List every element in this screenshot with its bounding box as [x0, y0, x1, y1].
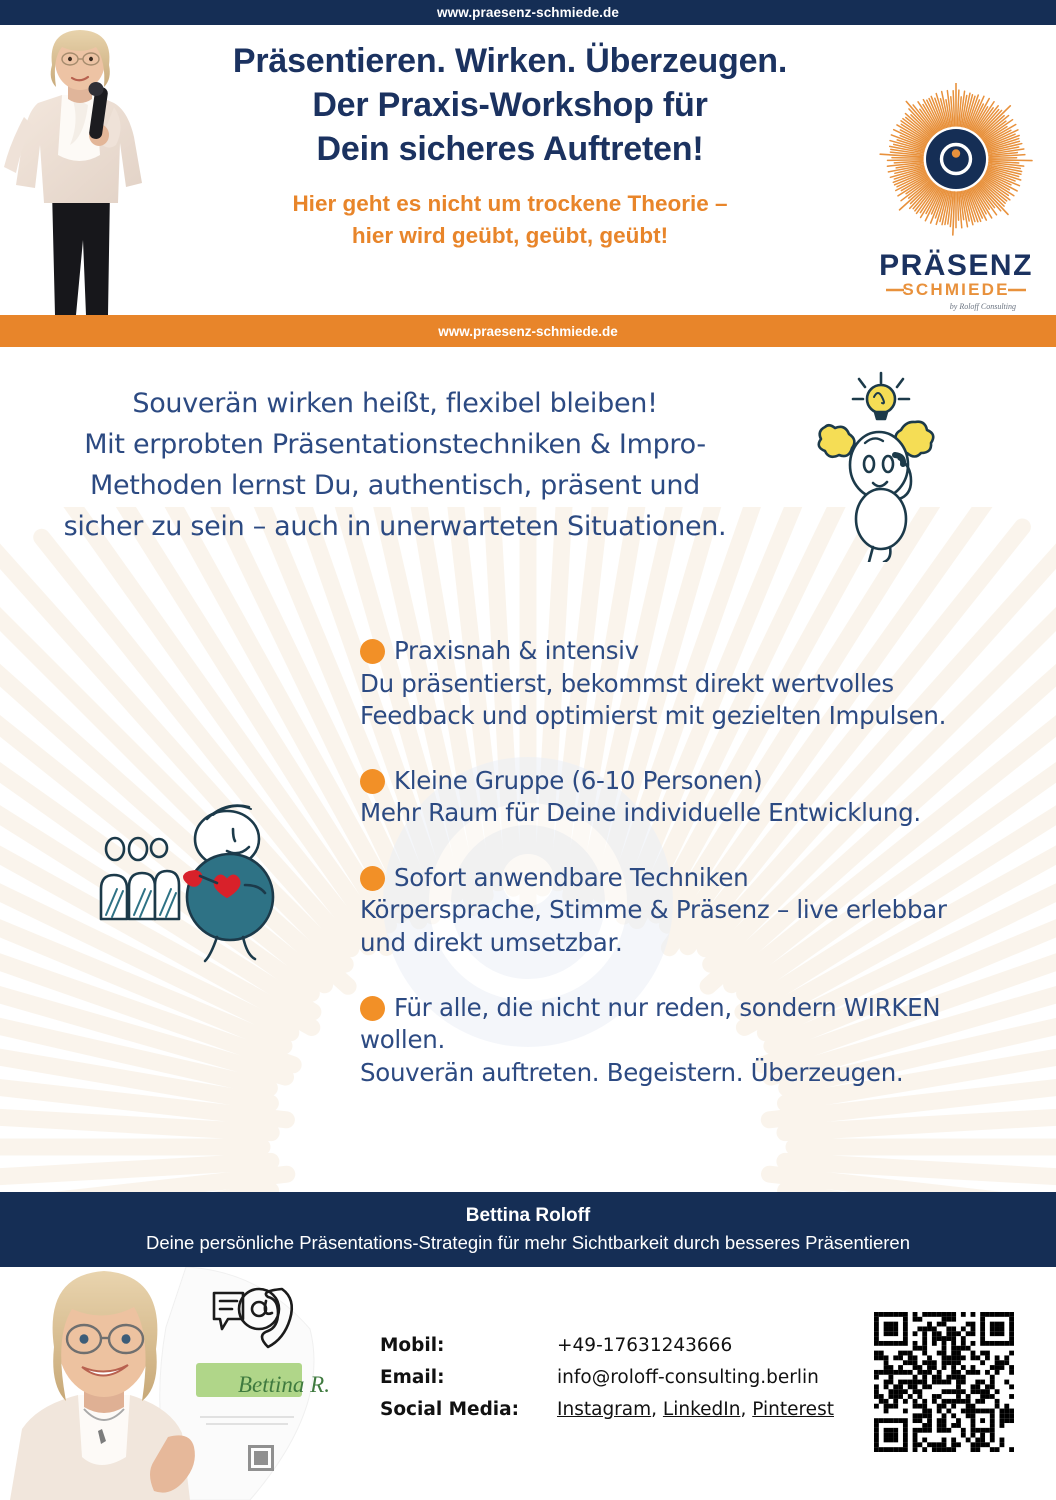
top-url-text: www.praesenz-schmiede.de — [437, 5, 619, 20]
logo-byline: by Roloff Consulting — [950, 302, 1016, 311]
header-section: Präsentieren. Wirken. Überzeugen. Der Pr… — [0, 25, 1056, 315]
bullet-dot-icon — [360, 639, 385, 664]
speaker-photo-illustration — [0, 25, 160, 315]
bullet-heading: Praxisnah & intensiv — [394, 635, 1020, 668]
header-title-line-1: Präsentieren. Wirken. Überzeugen. — [160, 39, 860, 83]
bullet-body-line: und direkt umsetzbar. — [360, 927, 1020, 960]
presenter-audience-figure-icon — [75, 777, 290, 972]
logo-eye-disc — [926, 129, 986, 189]
presenter-tagline: Deine persönliche Präsentations-Strategi… — [146, 1232, 910, 1254]
bullet-body-line: Du präsentierst, bekommst direkt wertvol… — [360, 668, 1020, 701]
bullet-body-line: Feedback und optimierst mit gezielten Im… — [360, 700, 1020, 733]
bullet-heading-row: Kleine Gruppe (6-10 Personen) — [360, 765, 1020, 798]
header-text-block: Präsentieren. Wirken. Überzeugen. Der Pr… — [160, 39, 860, 253]
bullet-dot-icon — [360, 996, 385, 1021]
presenter-name: Bettina Roloff — [466, 1205, 591, 1227]
bullet-body-line: wollen. — [360, 1024, 1020, 1057]
lightbulb-idea-figure-icon — [795, 367, 970, 562]
pinterest-link[interactable]: Pinterest — [752, 1399, 834, 1420]
bullet-heading-row: Für alle, die nicht nur reden, sondern W… — [360, 992, 1020, 1025]
top-url-bar[interactable]: www.praesenz-schmiede.de — [0, 0, 1056, 25]
contact-value-email[interactable]: info@roloff-consulting.berlin — [557, 1363, 834, 1393]
list-item: Sofort anwendbare Techniken Körpersprach… — [360, 862, 1020, 960]
bullet-dot-icon — [360, 769, 385, 794]
contact-value-phone[interactable]: +49-17631243666 — [557, 1331, 834, 1361]
praesenz-schmiede-logo[interactable]: PRÄSENZ SCHMIEDE by Roloff Consulting — [866, 83, 1046, 313]
header-title-line-3: Dein sicheres Auftreten! — [160, 127, 860, 171]
main-content-section: Souverän wirken heißt, flexibel bleiben!… — [0, 347, 1056, 1192]
bullet-body-line: Souverän auftreten. Begeistern. Überzeug… — [360, 1057, 1020, 1090]
bullet-heading: Sofort anwendbare Techniken — [394, 862, 1020, 895]
flyer-signature: Bettina R. — [238, 1372, 330, 1397]
contact-row-social: Social Media: Instagram, LinkedIn, Pinte… — [380, 1395, 834, 1425]
logo-eye-pupil — [952, 149, 960, 157]
bullet-heading-row: Sofort anwendbare Techniken — [360, 862, 1020, 895]
logo-svg: PRÄSENZ SCHMIEDE by Roloff Consulting — [866, 83, 1046, 313]
intro-line-3: Methoden lernst Du, authentisch, präsent… — [0, 465, 790, 506]
logo-word-bottom: SCHMIEDE — [902, 280, 1009, 299]
header-subtitle-line-1: Hier geht es nicht um trockene Theorie – — [160, 188, 860, 221]
list-item: Kleine Gruppe (6-10 Personen) Mehr Raum … — [360, 765, 1020, 830]
portrait-illustration: Bettina R. — [0, 1267, 350, 1500]
qr-code-icon[interactable] — [874, 1312, 1014, 1452]
list-item: Für alle, die nicht nur reden, sondern W… — [360, 992, 1020, 1090]
bullet-heading-row: Praxisnah & intensiv — [360, 635, 1020, 668]
contact-row-mobil: Mobil: +49-17631243666 — [380, 1331, 834, 1361]
flyer-page: www.praesenz-schmiede.de — [0, 0, 1056, 1500]
list-item: Praxisnah & intensiv Du präsentierst, be… — [360, 635, 1020, 733]
contact-label: Social Media: — [380, 1395, 555, 1425]
bullet-body-line: Körpersprache, Stimme & Präsenz – live e… — [360, 894, 1020, 927]
intro-line-2: Mit erprobten Präsentationstechniken & I… — [0, 424, 790, 465]
instagram-link[interactable]: Instagram — [557, 1399, 651, 1420]
contact-label: Email: — [380, 1363, 555, 1393]
bullet-body: Körpersprache, Stimme & Präsenz – live e… — [360, 894, 1020, 959]
portrait-photo: Bettina R. — [0, 1267, 350, 1500]
header-subtitle: Hier geht es nicht um trockene Theorie –… — [160, 188, 860, 253]
orange-url-text: www.praesenz-schmiede.de — [438, 324, 618, 339]
bullet-heading: Für alle, die nicht nur reden, sondern W… — [394, 992, 1020, 1025]
presenter-name-bar: Bettina Roloff Deine persönliche Präsent… — [0, 1192, 1056, 1267]
contact-details: Mobil: +49-17631243666 Email: info@rolof… — [378, 1329, 836, 1427]
bullet-body: Mehr Raum für Deine individuelle Entwick… — [360, 797, 1020, 830]
header-title: Präsentieren. Wirken. Überzeugen. Der Pr… — [160, 39, 860, 172]
bullet-body: wollen. Souverän auftreten. Begeistern. … — [360, 1024, 1020, 1089]
header-subtitle-line-2: hier wird geübt, geübt, geübt! — [160, 220, 860, 253]
benefits-list: Praxisnah & intensiv Du präsentierst, be… — [360, 635, 1020, 1121]
intro-line-4: sicher zu sein – auch in unerwarteten Si… — [0, 506, 790, 547]
contact-label: Mobil: — [380, 1331, 555, 1361]
intro-paragraph: Souverän wirken heißt, flexibel bleiben!… — [0, 383, 790, 547]
bullet-body-line: Mehr Raum für Deine individuelle Entwick… — [360, 797, 1020, 830]
bullet-body: Du präsentierst, bekommst direkt wertvol… — [360, 668, 1020, 733]
speaker-photo — [0, 25, 160, 315]
bullet-heading: Kleine Gruppe (6-10 Personen) — [394, 765, 1020, 798]
orange-url-bar[interactable]: www.praesenz-schmiede.de — [0, 315, 1056, 347]
intro-line-1: Souverän wirken heißt, flexibel bleiben! — [0, 383, 790, 424]
contact-value-social: Instagram, LinkedIn, Pinterest — [557, 1395, 834, 1425]
bullet-dot-icon — [360, 866, 385, 891]
logo-word-top: PRÄSENZ — [879, 249, 1033, 282]
contact-row-email: Email: info@roloff-consulting.berlin — [380, 1363, 834, 1393]
header-title-line-2: Der Praxis-Workshop für — [160, 83, 860, 127]
linkedin-link[interactable]: LinkedIn — [663, 1399, 741, 1420]
